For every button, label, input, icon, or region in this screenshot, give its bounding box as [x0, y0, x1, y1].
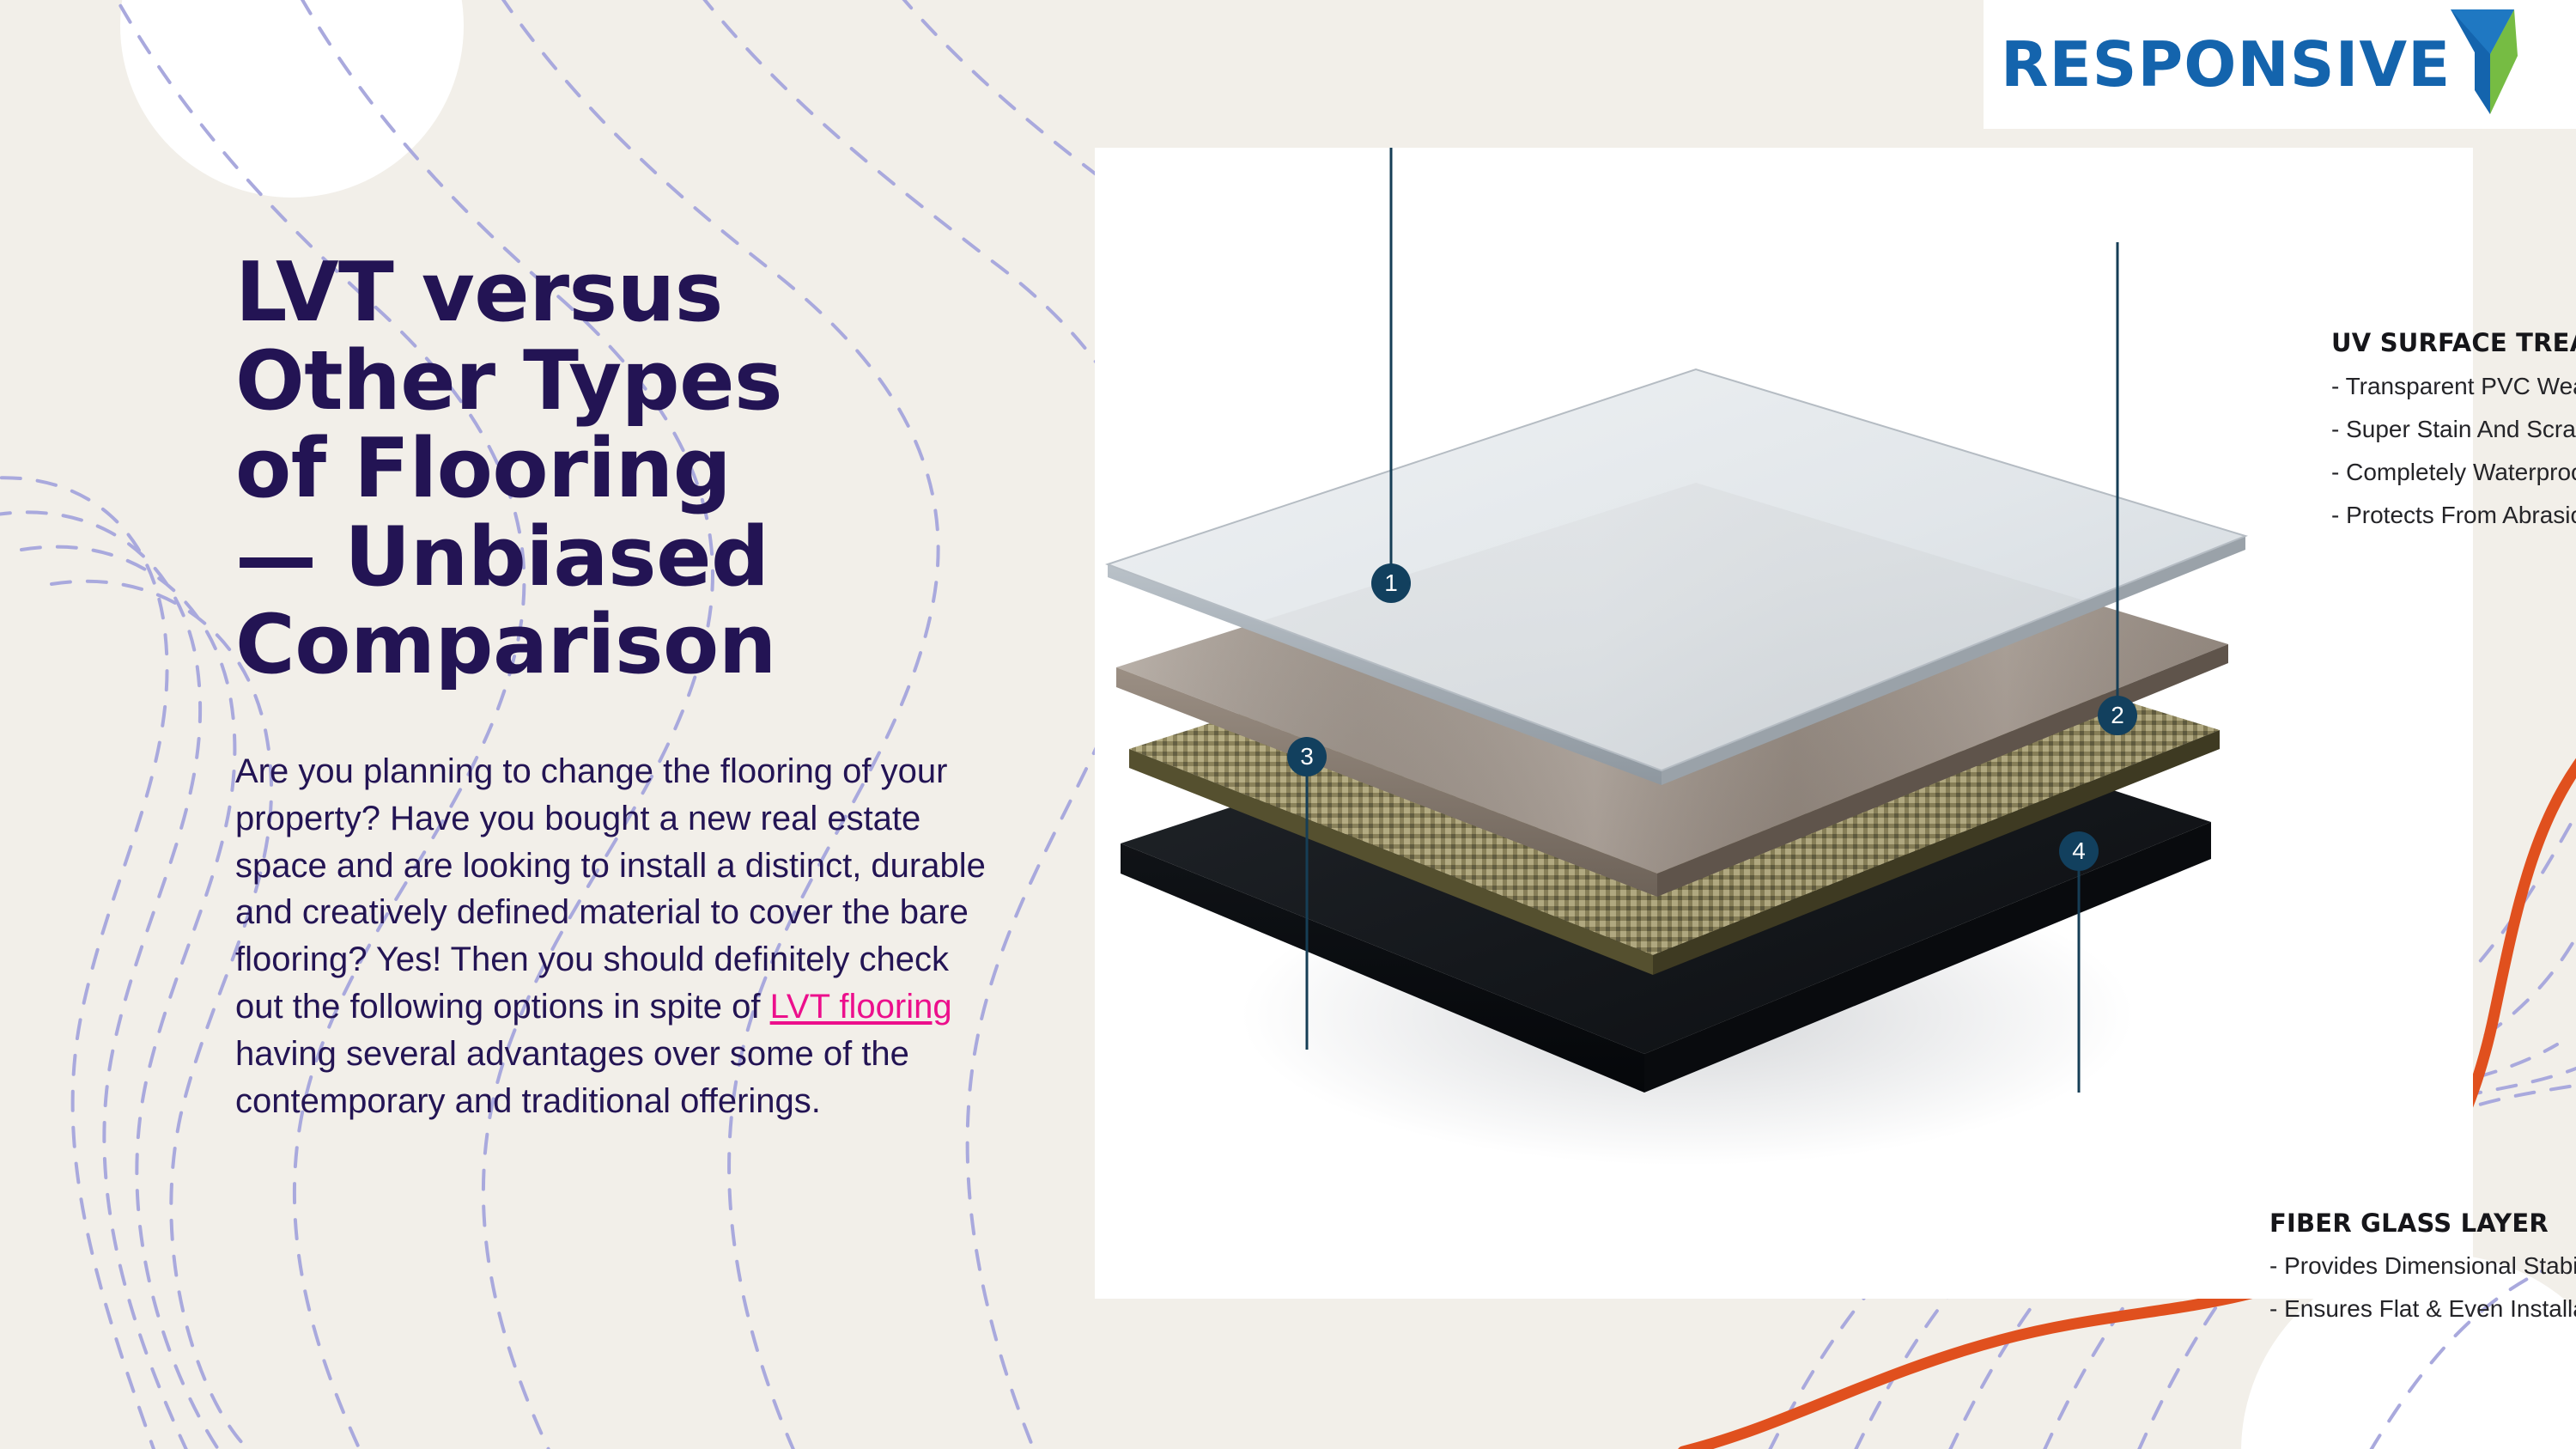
layer-marker-1[interactable]: 1	[1371, 563, 1411, 603]
callout-1-item: - Completely Waterproof	[2331, 460, 2576, 484]
hero-text-column: LVT versus Other Types of Flooring — Unb…	[235, 249, 1008, 1124]
layer-marker-4[interactable]: 4	[2059, 831, 2099, 871]
logo-arrow-icon	[2445, 4, 2519, 125]
callout-1-item: - Transparent PVC Wear Layer 0.3m	[2331, 374, 2576, 399]
callout-fiber-glass-layer: FIBER GLASS LAYER - Provides Dimensional…	[2269, 1209, 2576, 1321]
callout-1-item: - Super Stain And Scratch Resistant	[2331, 417, 2576, 441]
hero-paragraph: Are you planning to change the flooring …	[235, 748, 999, 1124]
paragraph-text-after-link: having several advantages over some of t…	[235, 1035, 909, 1120]
decor-circle-top-left	[120, 0, 464, 198]
paragraph-text-before-link: Are you planning to change the flooring …	[235, 752, 986, 1026]
callout-uv-surface-treatment: UV SURFACE TREATMENT: Thickness In Micro…	[2331, 328, 2576, 527]
callout-3-title: FIBER GLASS LAYER	[2269, 1209, 2576, 1238]
callout-3-item: - Provides Dimensional Stability	[2269, 1254, 2576, 1278]
lvt-layers-diagram	[1095, 148, 2473, 1299]
page-title: LVT versus Other Types of Flooring — Unb…	[235, 249, 1008, 690]
lvt-flooring-link[interactable]: LVT flooring	[770, 988, 952, 1026]
slide-canvas: LVT versus Other Types of Flooring — Unb…	[0, 0, 2576, 1449]
callout-1-item: - Protects From Abrasion	[2331, 503, 2576, 527]
callout-3-item: - Ensures Flat & Even Installation	[2269, 1297, 2576, 1321]
brand-logo[interactable]: RESPONSIVE	[1984, 0, 2576, 129]
layer-marker-2[interactable]: 2	[2098, 696, 2137, 735]
brand-logo-text: RESPONSIVE	[2001, 33, 2451, 95]
callout-1-title: UV SURFACE TREATMENT: Thickness In Micro…	[2331, 328, 2576, 358]
layer-marker-3[interactable]: 3	[1287, 737, 1327, 776]
callout-1-title-text: UV SURFACE TREATMENT:	[2331, 328, 2576, 357]
diagram-panel: UV SURFACE TREATMENT: Thickness In Micro…	[1095, 148, 2473, 1299]
